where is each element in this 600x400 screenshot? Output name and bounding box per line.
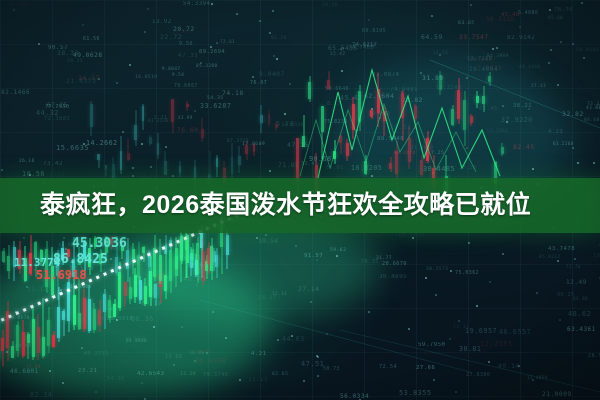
- candlestick: [37, 314, 40, 360]
- background-data-point: [317, 356, 319, 358]
- background-data-point: [83, 143, 85, 145]
- background-number: 18.33: [57, 49, 79, 57]
- candlestick: [482, 86, 485, 111]
- candle-body: [346, 143, 349, 156]
- background-data-point: [116, 82, 118, 84]
- background-number: 82.45: [513, 143, 535, 151]
- background-data-point: [476, 305, 478, 307]
- candlestick: [401, 90, 404, 142]
- candle-wick: [23, 320, 24, 357]
- background-data-point: [368, 19, 370, 21]
- background-data-point: [277, 339, 279, 341]
- background-data-point: [38, 43, 40, 45]
- background-number: 38.00: [189, 351, 205, 356]
- background-number: 19.51: [390, 124, 411, 131]
- background-data-point: [577, 162, 579, 164]
- candle-body: [395, 151, 398, 174]
- candle-body: [1, 338, 4, 350]
- background-number: 60.8195: [362, 28, 386, 34]
- background-data-point: [557, 84, 559, 86]
- background-data-point: [574, 258, 576, 260]
- background-number: 73.3564: [587, 102, 600, 107]
- teal-diagonal-streak-2: [200, 300, 470, 372]
- candle-body: [426, 138, 429, 162]
- background-number: 49.14: [498, 362, 520, 370]
- background-data-point: [110, 308, 112, 310]
- candle-body: [377, 89, 380, 114]
- background-number: 30.2573: [426, 267, 448, 272]
- candle-body: [47, 320, 50, 346]
- background-number: 74.6217: [352, 42, 377, 48]
- candlestick: [97, 154, 100, 167]
- background-number: 27.8386: [466, 372, 491, 378]
- green-zigzag-line-secondary: [300, 104, 476, 176]
- candlestick: [47, 307, 50, 353]
- candle-wick: [246, 142, 247, 160]
- candle-wick: [192, 243, 193, 265]
- candle-wick: [231, 143, 232, 179]
- background-number: 43.7478: [548, 246, 575, 252]
- background-data-point: [356, 129, 358, 131]
- background-data-point: [336, 255, 338, 257]
- background-data-point: [496, 47, 498, 49]
- background-number: 13.69: [165, 354, 182, 360]
- background-data-point: [326, 333, 328, 335]
- background-number: 5.4086: [518, 11, 538, 16]
- candle-wick: [384, 107, 385, 135]
- background-number: 77.7550: [45, 104, 70, 110]
- background-number: 30.7828: [125, 336, 145, 341]
- background-data-point: [194, 360, 196, 362]
- background-data-point: [310, 301, 312, 303]
- background-number: 74.0491: [390, 87, 418, 93]
- candlestick: [154, 283, 157, 306]
- background-number: 38.21: [513, 103, 532, 109]
- candle-wick: [340, 135, 341, 154]
- candlestick: [195, 254, 198, 277]
- background-number: 43.6130: [586, 106, 600, 111]
- candle-body: [134, 125, 137, 140]
- background-number: 18.37: [258, 295, 276, 301]
- background-data-point: [489, 281, 491, 283]
- candlestick: [268, 109, 271, 127]
- candle-body: [321, 106, 324, 132]
- candlestick: [260, 105, 263, 133]
- candle-wick: [227, 229, 228, 269]
- background-number: 20.6670: [382, 261, 407, 267]
- candle-body: [159, 255, 162, 281]
- candle-body: [196, 243, 199, 275]
- candle-wick: [421, 155, 422, 177]
- background-data-point: [433, 379, 435, 381]
- candle-body: [339, 136, 342, 143]
- candle-wick: [99, 300, 100, 332]
- candlestick: [210, 238, 213, 279]
- candlestick: [476, 91, 479, 107]
- background-number: 7.25: [431, 151, 444, 156]
- background-number: 30.4695: [379, 274, 407, 280]
- background-number: 63.2268: [553, 141, 574, 146]
- teal-diagonal-streak-3: [340, 330, 600, 392]
- background-number: 4.23: [548, 129, 563, 135]
- background-number: 21.0009: [542, 391, 572, 398]
- candle-body: [358, 91, 361, 122]
- candle-body: [327, 80, 330, 89]
- candle-body: [414, 106, 417, 118]
- candle-wick: [203, 238, 204, 285]
- candle-body: [134, 275, 137, 297]
- candlestick: [457, 78, 460, 124]
- background-number: 79.3886: [8, 2, 29, 7]
- background-number: 4.21: [251, 351, 266, 357]
- candle-body: [308, 82, 311, 100]
- candle-wick: [135, 110, 136, 145]
- candlestick: [62, 309, 65, 336]
- candlestick: [103, 289, 106, 329]
- background-data-point: [401, 91, 403, 93]
- background-data-point: [368, 311, 370, 313]
- background-number: 87.3725: [227, 139, 249, 144]
- background-number: 72.3881: [44, 116, 70, 122]
- background-data-point: [272, 10, 274, 12]
- background-number: 45.42: [340, 94, 362, 102]
- candlestick: [213, 248, 216, 271]
- background-data-point: [560, 41, 562, 43]
- background-number: 16.5238: [486, 16, 515, 23]
- background-data-point: [150, 166, 152, 168]
- candle-body: [98, 310, 101, 326]
- background-data-point: [548, 62, 550, 64]
- candle-body: [191, 249, 194, 260]
- candle-wick: [7, 301, 8, 361]
- candle-wick: [365, 155, 366, 175]
- background-number: 19.6957: [465, 327, 497, 335]
- candle-wick: [261, 105, 262, 133]
- background-number: 50.73: [323, 367, 340, 372]
- background-data-point: [211, 3, 213, 5]
- readout-value-1: 45.3036: [72, 236, 127, 251]
- candle-body: [439, 75, 442, 90]
- background-number: 85.8232: [539, 255, 561, 260]
- candlestick: [408, 126, 411, 170]
- candlestick: [216, 155, 219, 177]
- candle-body: [501, 147, 504, 153]
- background-number: 12.4859: [527, 375, 548, 380]
- background-number: 33.6287: [200, 102, 231, 110]
- background-data-point: [147, 8, 149, 10]
- background-number: 85.0918: [107, 316, 133, 322]
- candlestick: [358, 85, 361, 131]
- candle-body: [226, 235, 229, 255]
- candlestick: [144, 278, 147, 306]
- background-data-point: [371, 175, 373, 177]
- candlestick: [16, 321, 19, 357]
- candlestick: [2, 248, 5, 263]
- candlestick: [6, 301, 9, 361]
- background-number: 62.9604: [364, 92, 394, 100]
- candlestick: [191, 243, 194, 265]
- readout-value-2: 86.8425: [53, 252, 108, 267]
- candle-wick: [114, 299, 115, 318]
- candle-wick: [145, 278, 146, 306]
- candle-wick: [109, 295, 110, 323]
- background-number: 30.81: [459, 345, 481, 353]
- candle-body: [169, 250, 172, 281]
- background-number: 45.48: [501, 12, 520, 18]
- candlestick: [470, 114, 473, 126]
- background-number: 27.66: [416, 365, 435, 371]
- background-data-point: [49, 370, 51, 372]
- candle-wick: [63, 309, 64, 336]
- candlestick: [488, 72, 491, 86]
- background-number: 33.7547: [459, 34, 489, 41]
- background-number: 54.6538: [282, 123, 304, 128]
- background-number: 42.6543: [137, 371, 164, 377]
- candle-body: [275, 124, 278, 128]
- background-number: 46.6801: [10, 368, 39, 375]
- background-data-point: [502, 253, 504, 255]
- background-number: 82.9142: [507, 35, 535, 41]
- background-number: 74.7488: [348, 45, 374, 51]
- candlestick: [339, 135, 342, 154]
- candlestick: [275, 122, 278, 131]
- candlestick: [501, 143, 504, 156]
- background-data-point: [62, 382, 64, 384]
- background-data-point: [144, 31, 146, 33]
- background-data-point: [557, 260, 559, 262]
- background-data-point: [412, 237, 414, 239]
- background-data-point: [173, 364, 175, 366]
- candle-body: [83, 298, 86, 330]
- background-number: 64.8048: [126, 338, 147, 343]
- candlestick: [352, 97, 355, 138]
- candlestick: [200, 225, 203, 278]
- candle-body: [2, 251, 5, 262]
- candlestick: [253, 144, 256, 156]
- background-number: 78.76: [554, 7, 573, 13]
- candlestick: [27, 332, 30, 359]
- background-data-point: [291, 335, 293, 337]
- candle-wick: [502, 143, 503, 156]
- background-number: 37.9220: [501, 116, 533, 124]
- candle-body: [108, 300, 111, 318]
- candle-body: [105, 165, 108, 169]
- candle-wick: [254, 144, 255, 156]
- candle-body: [113, 304, 116, 317]
- candle-wick: [53, 331, 54, 348]
- candle-wick: [402, 90, 403, 142]
- background-data-point: [506, 121, 508, 123]
- candle-wick: [328, 71, 329, 90]
- background-data-point: [82, 24, 84, 26]
- background-number: 49.0628: [73, 52, 103, 59]
- background-number: 82.34: [30, 391, 52, 399]
- candle-wick: [143, 104, 144, 130]
- background-number: 12.28: [180, 372, 196, 377]
- candle-body: [470, 116, 473, 123]
- background-data-point: [196, 284, 198, 286]
- background-number: 75.8239: [324, 120, 348, 125]
- background-number: 22.6481: [596, 104, 600, 109]
- background-data-point: [1, 169, 3, 171]
- background-data-point: [165, 146, 167, 148]
- candle-wick: [106, 165, 107, 176]
- background-number: 16.06: [97, 315, 118, 322]
- candle-wick: [104, 289, 105, 329]
- background-number: 82.65: [272, 372, 288, 377]
- candlestick: [186, 234, 189, 278]
- candlestick: [157, 133, 160, 159]
- background-number: 59.6646: [325, 86, 349, 92]
- background-data-point: [129, 64, 131, 66]
- candle-body: [149, 271, 152, 297]
- image-canvas: 50.0184.390991.0149.7772.148414.7279.606…: [0, 0, 600, 400]
- candle-wick: [33, 306, 34, 360]
- candle-body: [164, 161, 167, 174]
- candle-wick: [138, 242, 139, 285]
- candle-wick: [180, 161, 181, 177]
- green-zigzag-line: [318, 70, 500, 178]
- candlestick: [207, 242, 210, 274]
- teal-diagonal-streak: [430, 60, 600, 128]
- background-data-point: [60, 289, 62, 291]
- background-number: 39.5867: [469, 57, 496, 63]
- background-number: 82.1466: [1, 89, 30, 96]
- background-number: 21.82: [402, 97, 423, 104]
- background-number: 46.6557: [499, 328, 531, 336]
- candle-wick: [309, 76, 310, 103]
- background-number: 31.45: [301, 161, 319, 167]
- candle-wick: [68, 276, 69, 332]
- candle-body: [408, 138, 411, 162]
- candlestick: [463, 91, 466, 146]
- background-number: 19.6896: [593, 253, 600, 259]
- background-number: 28.6398: [195, 357, 226, 365]
- background-number: 73.76: [566, 264, 581, 269]
- background-number: 33.0874: [372, 72, 399, 78]
- background-data-point: [528, 108, 530, 110]
- candle-wick: [8, 245, 9, 280]
- candle-wick: [135, 268, 136, 303]
- background-number: 45.68: [548, 15, 563, 20]
- candle-wick: [48, 307, 49, 353]
- candle-wick: [196, 254, 197, 277]
- background-data-point: [572, 43, 574, 45]
- background-number: 75.9552: [246, 237, 277, 245]
- candle-wick: [378, 73, 379, 127]
- background-data-point: [13, 9, 15, 11]
- candlestick: [129, 277, 132, 304]
- background-number: 47.51: [301, 360, 324, 368]
- candlestick: [149, 135, 152, 146]
- candle-body: [142, 106, 145, 121]
- background-number: 30.4485: [423, 165, 455, 173]
- background-number: 83.2130: [148, 118, 168, 123]
- candle-wick: [160, 264, 161, 304]
- background-number: 28.5723: [588, 353, 600, 359]
- background-data-point: [341, 70, 343, 72]
- candle-body: [420, 160, 423, 175]
- background-number: 84.3909: [487, 54, 509, 59]
- candlestick: [414, 104, 417, 129]
- background-data-point: [200, 62, 202, 64]
- candle-body: [93, 309, 96, 330]
- background-number: 32.82: [562, 110, 584, 118]
- candlestick: [389, 157, 392, 172]
- background-data-point: [225, 337, 227, 339]
- background-data-point: [6, 351, 8, 353]
- background-number: 63.4361: [567, 326, 596, 333]
- candle-wick: [140, 276, 141, 304]
- background-data-point: [379, 117, 381, 119]
- candle-wick: [489, 72, 490, 86]
- background-number: 45.2713: [84, 351, 109, 357]
- background-number: 9.0407: [259, 71, 285, 78]
- background-number: 17.89: [26, 364, 41, 369]
- candle-wick: [172, 99, 173, 133]
- background-number: 26.16: [19, 159, 35, 164]
- candle-body: [190, 253, 193, 268]
- background-data-point: [63, 237, 65, 239]
- candle-body: [463, 100, 466, 131]
- candlestick: [226, 229, 229, 269]
- candlestick: [134, 268, 137, 303]
- candlestick: [120, 136, 123, 174]
- background-number: 40.4066: [519, 65, 541, 70]
- background-number: 19.54: [258, 238, 279, 245]
- candle-wick: [84, 289, 85, 332]
- background-data-point: [536, 292, 538, 294]
- background-number: 83.88: [573, 296, 588, 301]
- background-number: 56.0334: [340, 393, 369, 400]
- background-data-point: [265, 234, 267, 236]
- background-number: 27.14: [298, 286, 319, 293]
- candle-body: [260, 115, 263, 124]
- background-number: 8.17: [327, 101, 341, 107]
- background-data-point: [65, 248, 67, 250]
- candle-body: [37, 327, 40, 353]
- background-data-point: [408, 328, 410, 330]
- background-data-point: [458, 320, 460, 322]
- candlestick: [67, 276, 70, 332]
- candle-body: [370, 110, 373, 117]
- candle-body: [383, 111, 386, 121]
- candlestick: [118, 262, 121, 311]
- candle-wick: [201, 225, 202, 278]
- background-data-point: [206, 352, 208, 354]
- background-number: 39.81: [196, 350, 211, 355]
- candle-body: [73, 295, 76, 325]
- page-title: 泰疯狂，2026泰国泼水节狂欢全攻略已就位: [0, 193, 531, 218]
- background-number: 44.32: [36, 109, 59, 117]
- candle-wick: [98, 154, 99, 167]
- background-number: 15.6635: [56, 144, 89, 152]
- background-data-point: [549, 9, 551, 11]
- candlestick: [370, 109, 373, 119]
- candlestick: [426, 131, 429, 163]
- background-data-point: [26, 286, 28, 288]
- candlestick: [308, 76, 311, 103]
- candle-body: [159, 274, 162, 286]
- background-data-point: [519, 26, 521, 28]
- candle-wick: [128, 139, 129, 161]
- background-number: 5.78: [276, 120, 294, 128]
- candlestick: [333, 140, 336, 164]
- background-number: 58.2466: [487, 129, 509, 134]
- candle-wick: [322, 106, 323, 159]
- candle-body: [231, 157, 234, 173]
- candle-body: [245, 145, 248, 153]
